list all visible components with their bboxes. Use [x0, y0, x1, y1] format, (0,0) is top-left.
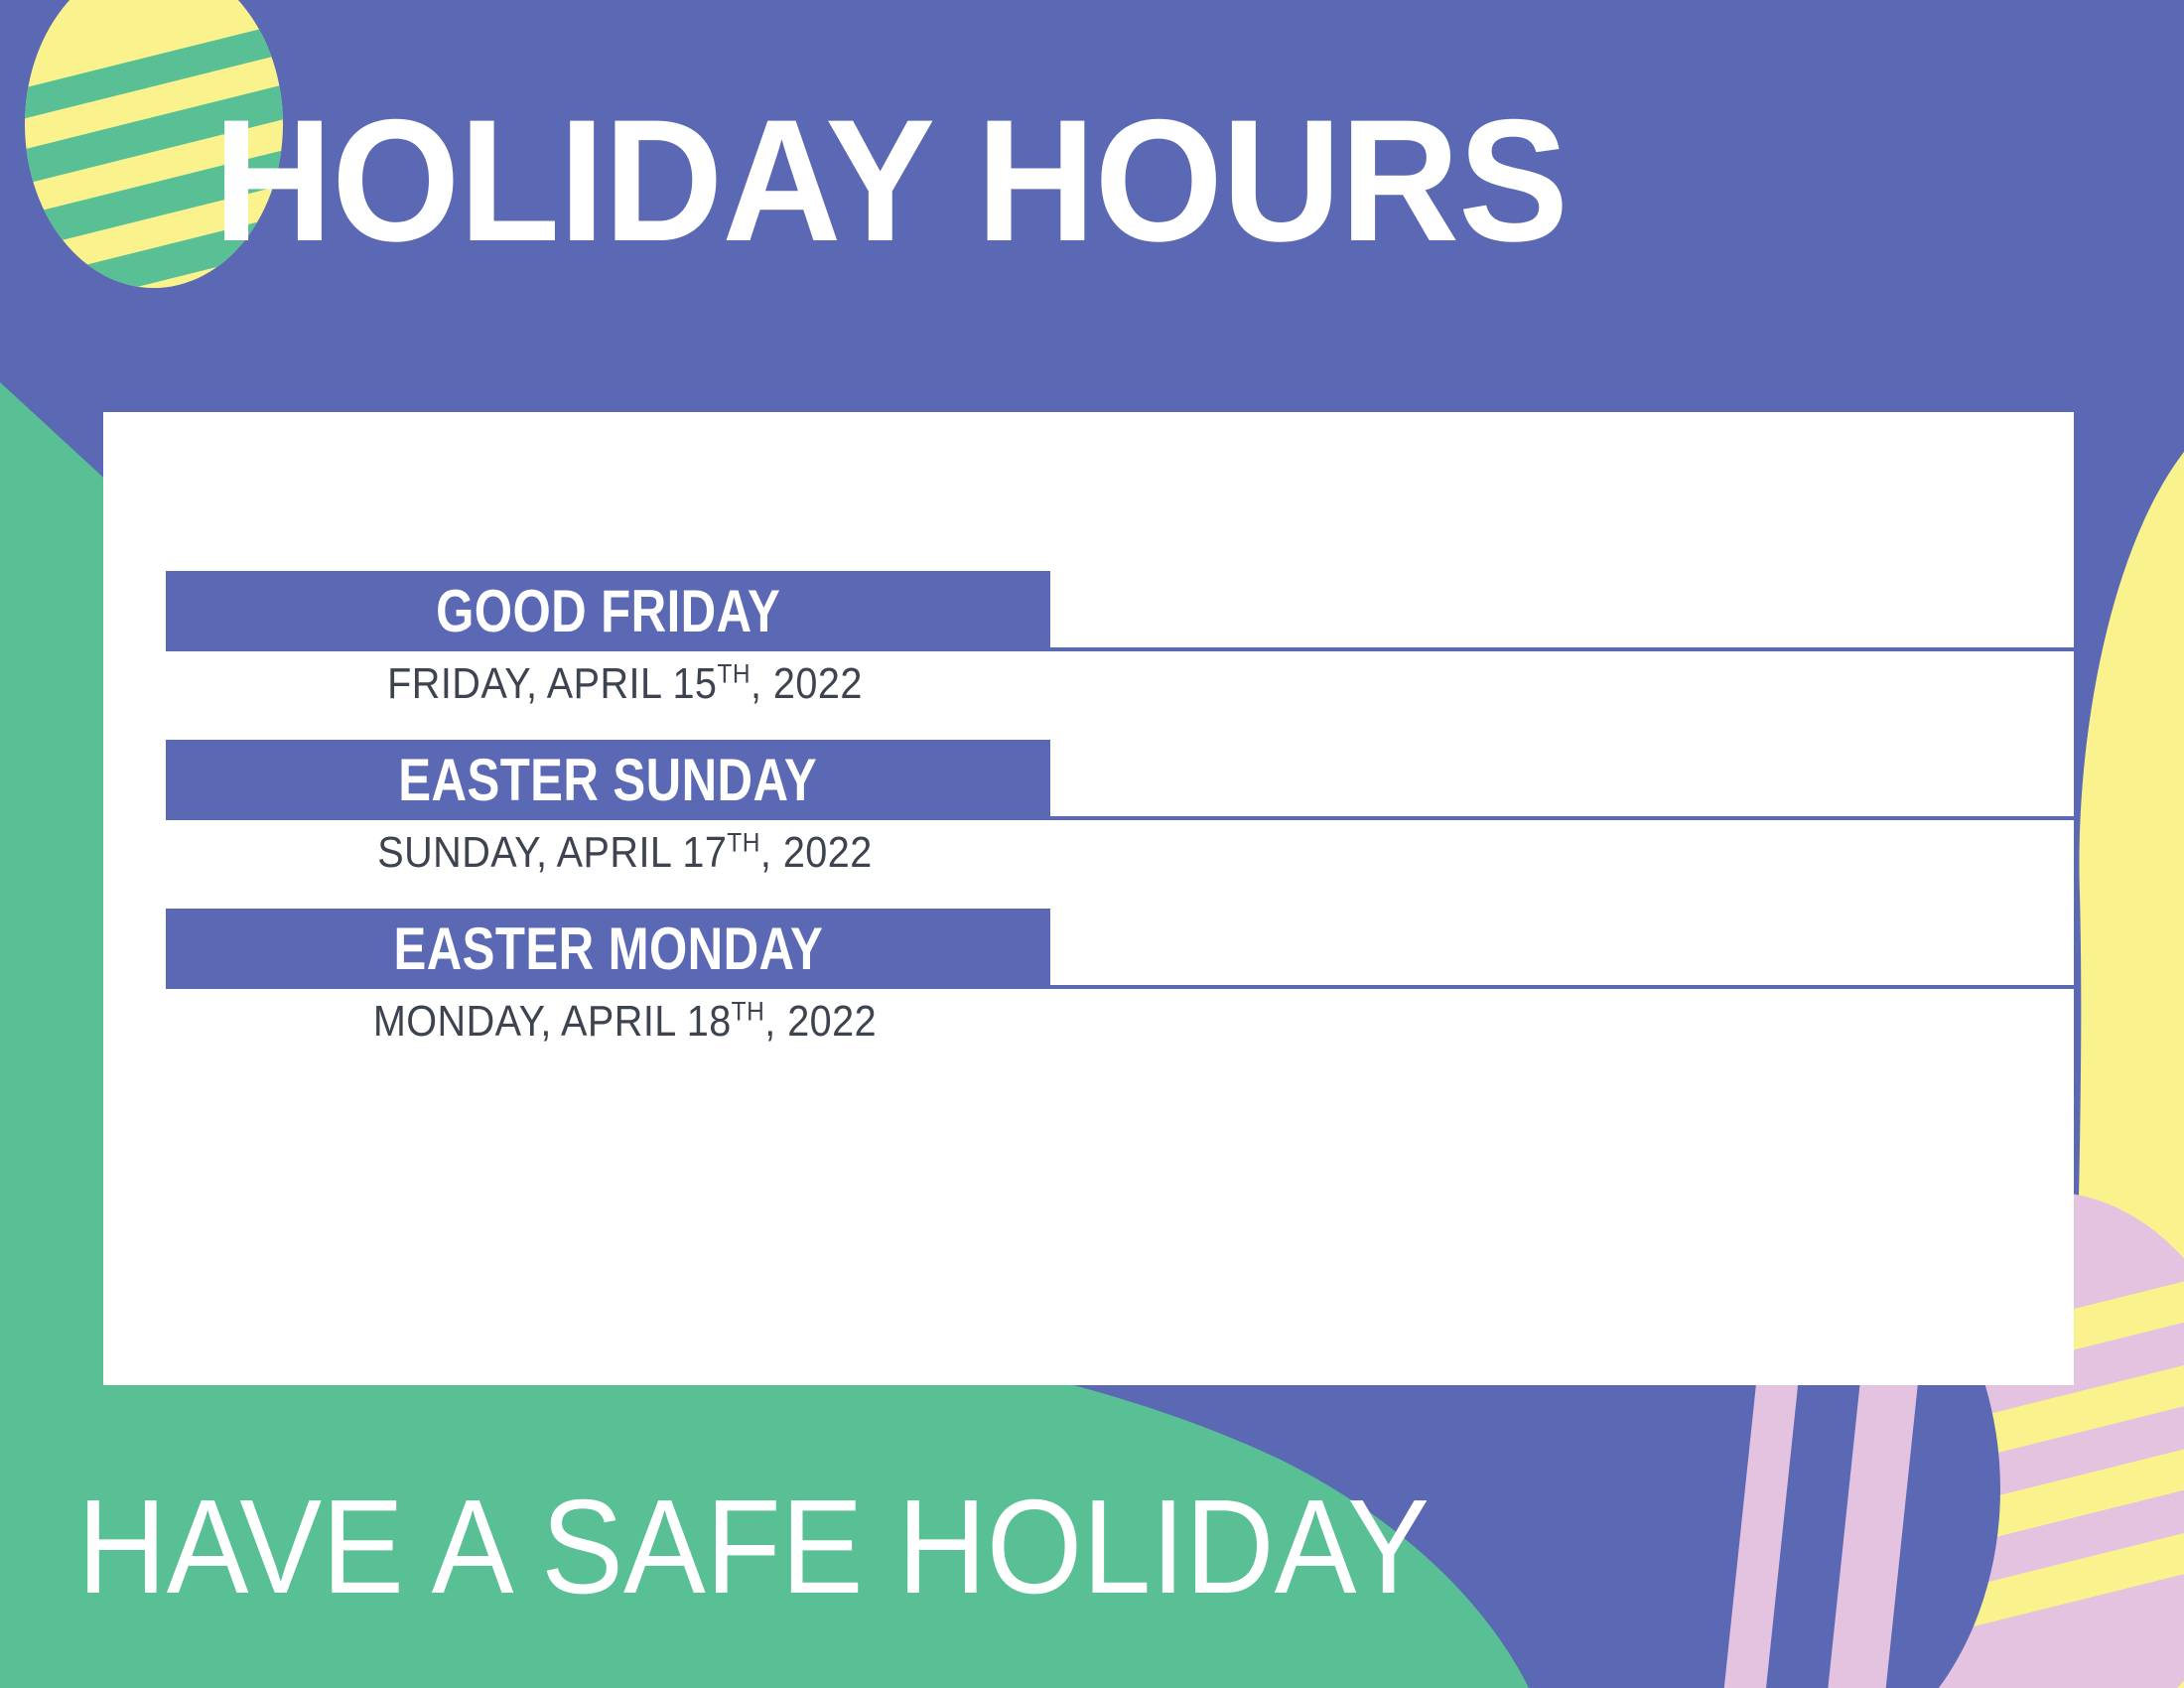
holiday-label: EASTER SUNDAY — [399, 751, 818, 810]
holiday-date: FRIDAY, APRIL 15TH, 2022 — [227, 659, 1024, 709]
holiday-label-bar: GOOD FRIDAY — [166, 571, 1050, 651]
hours-write-in-line — [1050, 985, 2074, 989]
poster-canvas: HOLIDAY HOURS GOOD FRIDAY FRIDAY, APRIL … — [0, 0, 2184, 1688]
schedule-row: GOOD FRIDAY FRIDAY, APRIL 15TH, 2022 — [166, 571, 2074, 709]
schedule-row: EASTER MONDAY MONDAY, APRIL 18TH, 2022 — [166, 909, 2074, 1047]
date-ordinal: TH — [727, 826, 760, 857]
holiday-label: GOOD FRIDAY — [436, 582, 780, 641]
holiday-label: EASTER MONDAY — [393, 919, 823, 979]
date-prefix: MONDAY, APRIL 18 — [373, 997, 732, 1046]
date-ordinal: TH — [732, 995, 765, 1026]
schedule-card: GOOD FRIDAY FRIDAY, APRIL 15TH, 2022 EAS… — [103, 412, 2074, 1385]
row-header: EASTER MONDAY — [166, 909, 2074, 989]
row-header: EASTER SUNDAY — [166, 740, 2074, 820]
hours-write-in-line — [1050, 816, 2074, 820]
date-suffix: , 2022 — [751, 659, 863, 708]
schedule-row: EASTER SUNDAY SUNDAY, APRIL 17TH, 2022 — [166, 740, 2074, 878]
holiday-label-bar: EASTER MONDAY — [166, 909, 1050, 989]
page-title: HOLIDAY HOURS — [213, 94, 1568, 268]
date-prefix: SUNDAY, APRIL 17 — [377, 828, 727, 877]
row-header: GOOD FRIDAY — [166, 571, 2074, 651]
holiday-date: MONDAY, APRIL 18TH, 2022 — [227, 997, 1024, 1047]
date-prefix: FRIDAY, APRIL 15 — [387, 659, 717, 708]
hours-write-in-line — [1050, 647, 2074, 651]
holiday-date: SUNDAY, APRIL 17TH, 2022 — [227, 828, 1024, 878]
date-suffix: , 2022 — [760, 828, 873, 877]
holiday-label-bar: EASTER SUNDAY — [166, 740, 1050, 820]
footer-message: HAVE A SAFE HOLIDAY — [77, 1479, 1430, 1614]
date-suffix: , 2022 — [764, 997, 877, 1046]
date-ordinal: TH — [717, 657, 751, 688]
